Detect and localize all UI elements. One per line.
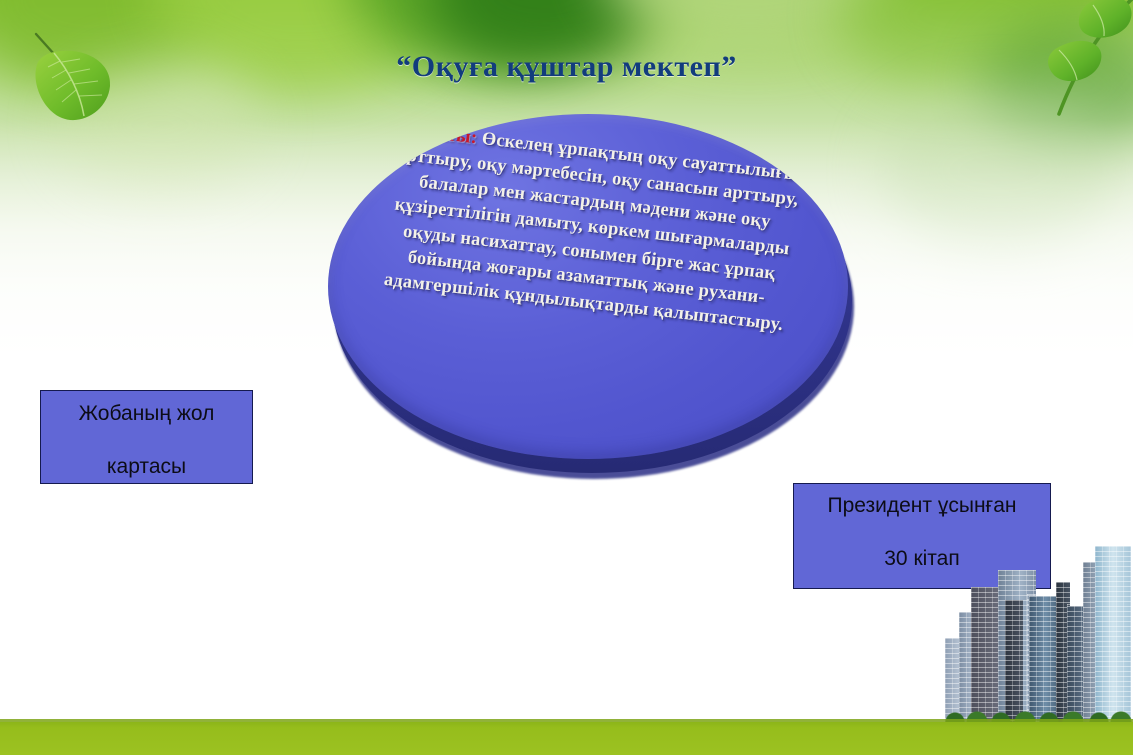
- page-title: “Оқуға құштар мектеп”: [0, 50, 1133, 84]
- building: [1005, 600, 1023, 722]
- disc-text: Мақсаты: Өскелең ұрпақтың оқу сауаттылығ…: [357, 115, 826, 341]
- building: [1029, 596, 1059, 722]
- roadmap-box[interactable]: Жобаның жол картасы: [40, 390, 253, 484]
- goal-label: Мақсаты:: [391, 119, 479, 149]
- roadmap-box-line1: Жобаның жол: [41, 401, 252, 427]
- goal-text: Өскелең ұрпақтың оқу сауаттылығын арттыр…: [383, 128, 811, 335]
- green-footer-bar: [0, 722, 1133, 755]
- roadmap-box-line2: картасы: [41, 454, 252, 480]
- disc-face: Мақсаты: Өскелең ұрпақтың оқу сауаттылығ…: [328, 114, 848, 459]
- building: [971, 587, 1001, 722]
- city-skyline-image: [943, 532, 1133, 722]
- president-books-line1: Президент ұсынған: [794, 493, 1050, 519]
- goal-disc: Мақсаты: Өскелең ұрпақтың оқу сауаттылығ…: [326, 112, 861, 502]
- building: [1095, 546, 1131, 722]
- slide-canvas: “Оқуға құштар мектеп” Мақсаты: Өскелең ұ…: [0, 0, 1133, 755]
